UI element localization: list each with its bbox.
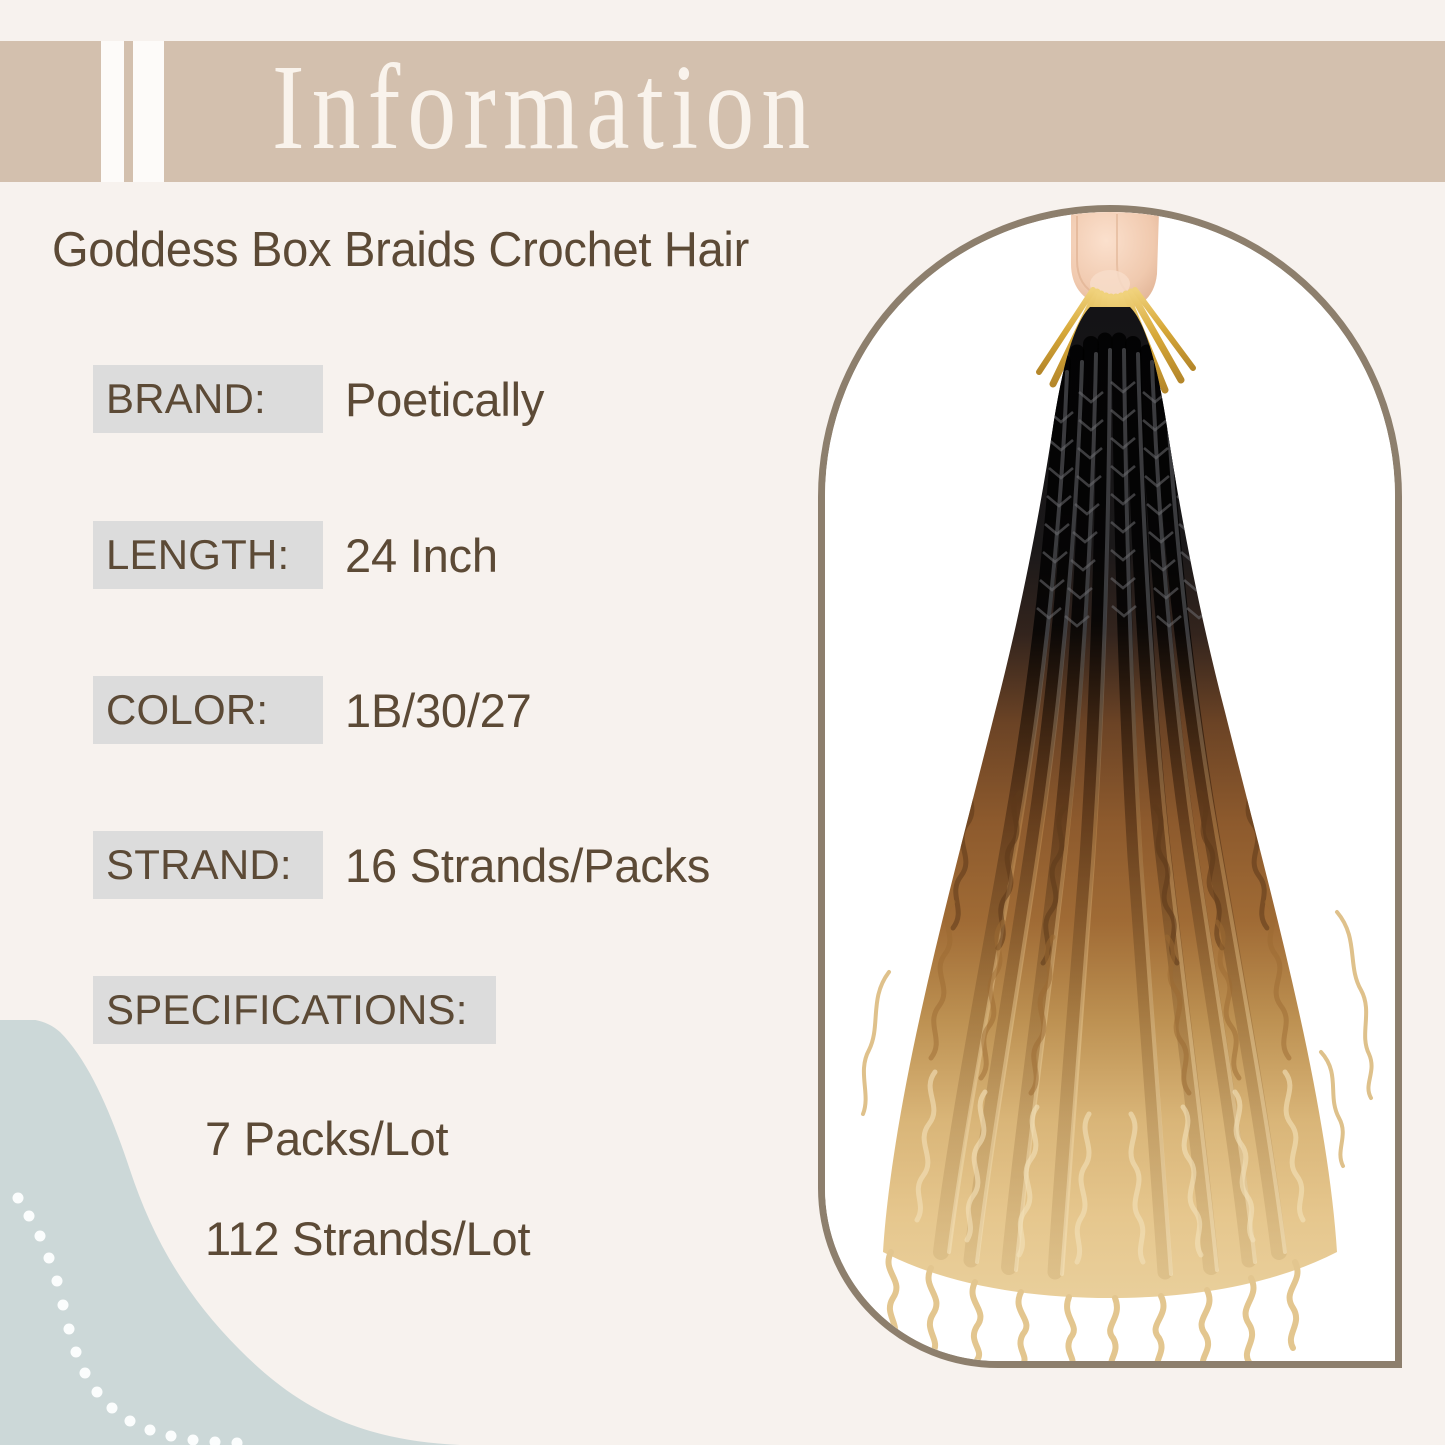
product-name: Goddess Box Braids Crochet Hair xyxy=(52,222,749,278)
spec-value-brand: Poetically xyxy=(323,365,544,423)
spec-row-color: COLOR: 1B/30/27 xyxy=(93,676,532,744)
spec-row-brand: BRAND: Poetically xyxy=(93,365,544,433)
spec-row-strand: STRAND: 16 Strands/Packs xyxy=(93,831,710,899)
hand xyxy=(1071,212,1159,308)
spec-value-color: 1B/30/27 xyxy=(323,676,532,734)
spec-value-length: 24 Inch xyxy=(323,521,498,579)
spec-label-brand: BRAND: xyxy=(93,365,323,433)
spec-value-strand: 16 Strands/Packs xyxy=(323,831,710,889)
page-title: Information xyxy=(272,37,817,178)
header-banner: Information xyxy=(0,41,1445,182)
product-photo-frame xyxy=(818,205,1402,1368)
specification-line-2: 112 Strands/Lot xyxy=(205,1215,530,1262)
arch-border xyxy=(818,205,1402,1368)
spec-row-specifications: SPECIFICATIONS: xyxy=(93,976,496,1044)
banner-accent-bar-2 xyxy=(133,41,164,182)
specification-line-1: 7 Packs/Lot xyxy=(205,1115,448,1162)
banner-accent-bar-1 xyxy=(101,41,124,182)
information-graphic: Information Goddess Box Braids Crochet H… xyxy=(0,0,1445,1445)
spec-label-strand: STRAND: xyxy=(93,831,323,899)
spec-label-length: LENGTH: xyxy=(93,521,323,589)
product-photo xyxy=(825,212,1395,1361)
spec-row-length: LENGTH: 24 Inch xyxy=(93,521,498,589)
spec-label-specifications: SPECIFICATIONS: xyxy=(93,976,496,1044)
spec-label-color: COLOR: xyxy=(93,676,323,744)
